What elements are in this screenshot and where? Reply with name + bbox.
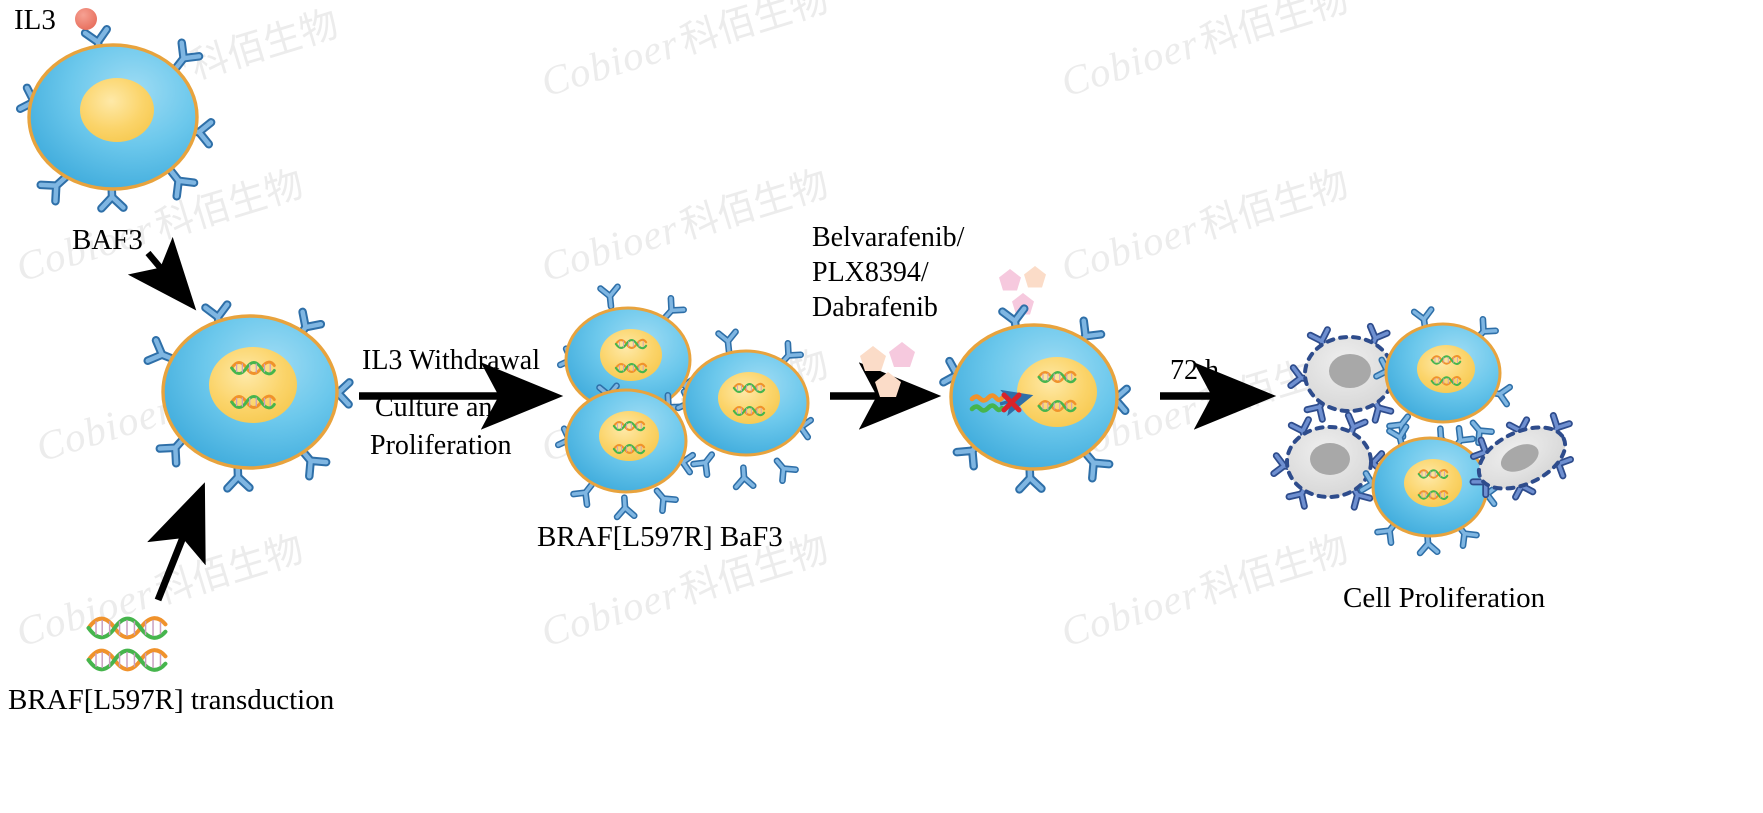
drug-molecule-icon xyxy=(875,372,901,397)
label-baf3: BAF3 xyxy=(72,223,143,258)
dna-strand-icon xyxy=(89,618,166,638)
label-drug-line2: PLX8394/ xyxy=(812,256,929,290)
arrow-dna-to-cell xyxy=(158,492,201,600)
label-72h: 72 h xyxy=(1170,354,1219,388)
label-drug-line3: Dabrafenib xyxy=(812,291,938,325)
cell-braf-transduced xyxy=(148,305,350,489)
cell-nucleus xyxy=(1017,357,1097,427)
cell-nucleus xyxy=(718,372,780,424)
cell-braf-baf3 xyxy=(678,332,810,487)
dna-strand-icon xyxy=(89,650,166,670)
cell-cluster-proliferating xyxy=(558,287,810,517)
drug-molecule-icon xyxy=(999,269,1021,291)
label-il3: IL3 xyxy=(14,3,56,38)
cell-live-proliferating xyxy=(1362,427,1497,553)
label-culture-line2: Proliferation xyxy=(370,429,512,463)
cell-nucleus xyxy=(80,78,154,142)
il3-cytokine-icon xyxy=(75,8,97,30)
cell-live-proliferating xyxy=(1376,310,1509,448)
label-drug-line1: Belvarafenib/ xyxy=(812,221,964,255)
cell-dead-apoptotic xyxy=(1274,415,1382,507)
cell-nucleus xyxy=(600,329,662,381)
cell-nucleus xyxy=(1417,345,1475,393)
drug-molecule-icon xyxy=(1024,266,1046,288)
cell-nucleus-condensed xyxy=(1310,443,1350,475)
drug-molecule-cluster xyxy=(860,342,915,397)
cell-braf-baf3 xyxy=(558,386,692,517)
cell-nucleus-condensed xyxy=(1329,354,1371,388)
cell-drug-treated xyxy=(943,309,1126,490)
label-il3-withdrawal: IL3 Withdrawal xyxy=(362,344,540,378)
drug-molecule-icon xyxy=(860,346,886,371)
figure-canvas: Cobioer 科佰生物 Cobioer 科佰生物 Cobioer 科佰生物 C… xyxy=(0,0,1763,813)
label-braf-baf3: BRAF[L597R] BaF3 xyxy=(537,520,783,555)
cell-baf3-parental xyxy=(20,29,211,208)
arrow-baf3-to-transduced xyxy=(148,253,190,303)
label-braf-transduction: BRAF[L597R] transduction xyxy=(8,683,334,718)
cell-nucleus xyxy=(1404,459,1462,507)
dna-construct-group xyxy=(89,618,166,670)
drug-molecule-icon xyxy=(889,342,915,367)
label-cell-proliferation: Cell Proliferation xyxy=(1343,581,1545,616)
label-culture-line1: Culture and xyxy=(375,391,506,425)
cell-nucleus xyxy=(209,347,297,423)
